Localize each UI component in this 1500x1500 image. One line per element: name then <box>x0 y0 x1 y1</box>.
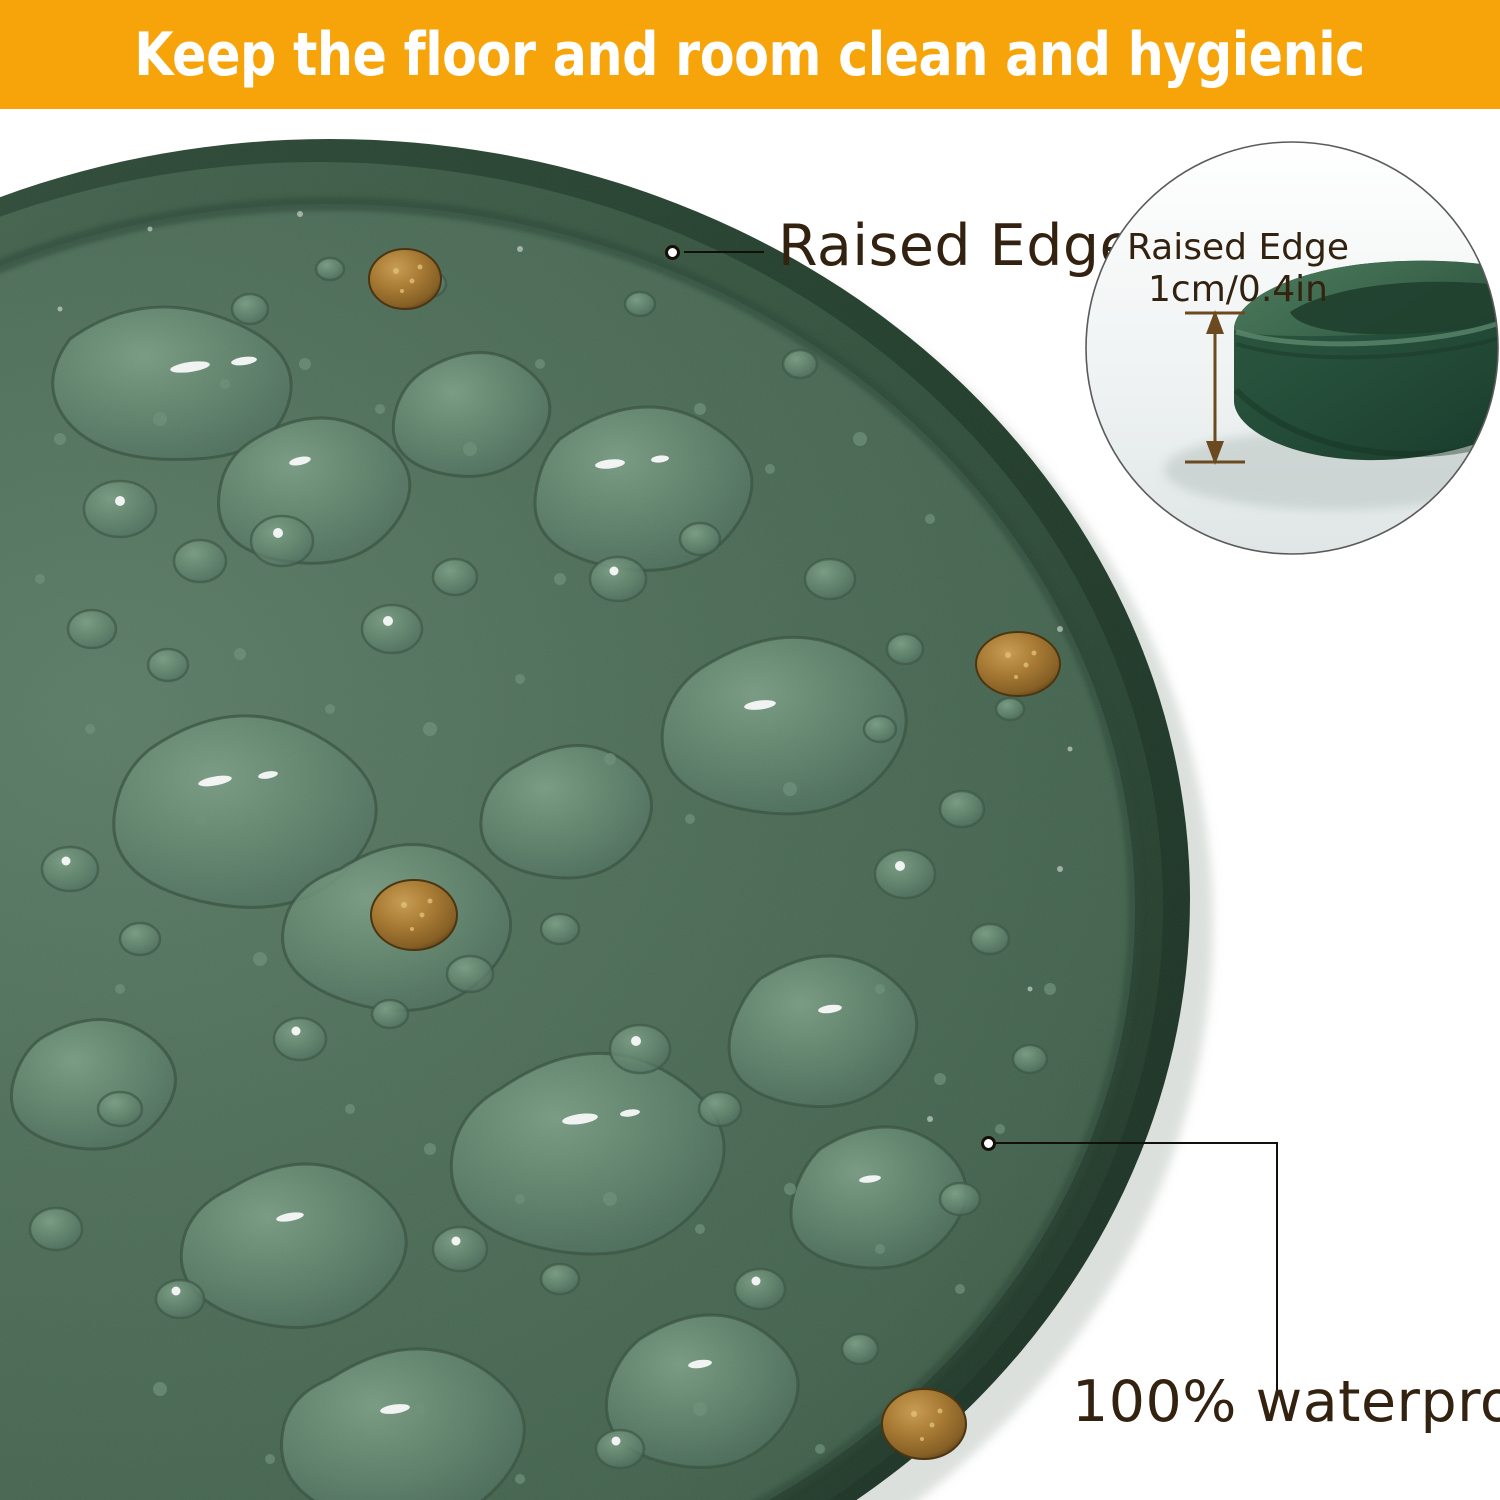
waterproof-label: 100% waterproof <box>1072 1374 1500 1431</box>
inset-illustration <box>1084 140 1500 556</box>
raised-edge-leader-line <box>684 251 764 253</box>
raised-edge-detail-inset: Raised Edge 1cm/0.4in <box>1084 140 1500 556</box>
waterproof-leader-vertical <box>1276 1142 1278 1395</box>
inset-label-line2: 1cm/0.4in <box>1108 272 1368 308</box>
waterproof-marker-dot <box>981 1136 996 1151</box>
raised-edge-marker-dot <box>665 245 680 260</box>
banner-headline: Keep the floor and room clean and hygien… <box>135 25 1366 85</box>
header-banner: Keep the floor and room clean and hygien… <box>0 0 1500 109</box>
product-infographic: Keep the floor and room clean and hygien… <box>0 0 1500 1500</box>
waterproof-leader-horizontal <box>996 1142 1278 1144</box>
raised-edge-label: Raised Edge <box>778 218 1135 275</box>
inset-label-line1: Raised Edge <box>1108 230 1368 266</box>
